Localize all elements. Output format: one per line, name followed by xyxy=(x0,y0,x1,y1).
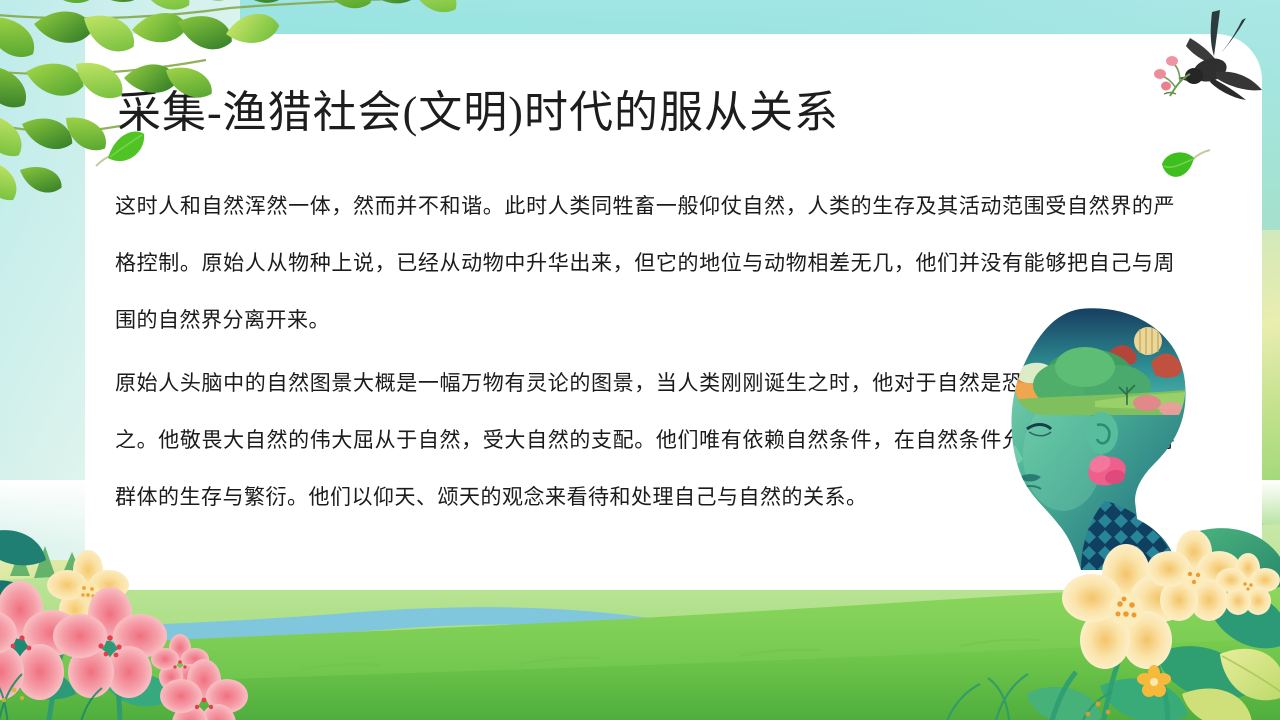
paragraph-2: 原始人头脑中的自然图景大概是一幅万物有灵论的图景，当人类刚刚诞生之时，他对于自然… xyxy=(115,355,1175,526)
page-title: 采集-渔猎社会(文明)时代的服从关系 xyxy=(117,76,839,140)
content-card: 采集-渔猎社会(文明)时代的服从关系 这时人和自然浑然一体，然而并不和谐。此时人… xyxy=(85,34,1262,590)
body-text-block: 这时人和自然浑然一体，然而并不和谐。此时人类同牲畜一般仰仗自然，人类的生存及其活… xyxy=(115,178,1175,532)
paragraph-1: 这时人和自然浑然一体，然而并不和谐。此时人类同牲畜一般仰仗自然，人类的生存及其活… xyxy=(115,178,1175,349)
slide-canvas: 采集-渔猎社会(文明)时代的服从关系 这时人和自然浑然一体，然而并不和谐。此时人… xyxy=(0,0,1280,720)
